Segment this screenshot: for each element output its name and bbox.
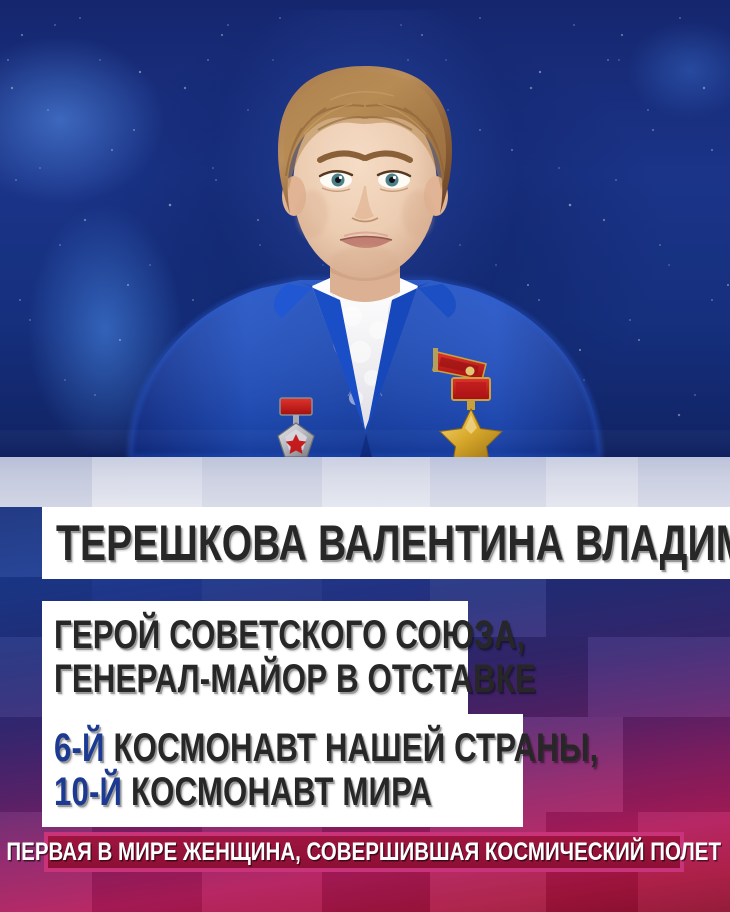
- page-title: ТЕРЕШКОВА ВАЛЕНТИНА ВЛАДИМИРОВНА: [56, 514, 730, 572]
- portrait-photo: [0, 0, 730, 457]
- title-block: ТЕРЕШКОВА ВАЛЕНТИНА ВЛАДИМИРОВНА: [42, 507, 730, 579]
- subtitle-line-3: 6-Й КОСМОНАВТ НАШЕЙ СТРАНЫ,: [54, 727, 598, 770]
- achievement-banner-text: ПЕРВАЯ В МИРЕ ЖЕНЩИНА, СОВЕРШИВШАЯ КОСМИ…: [7, 838, 722, 867]
- light-divider-band: [0, 457, 730, 507]
- subtitle-line-2: ГЕНЕРАЛ-МАЙОР В ОТСТАВКЕ: [54, 658, 536, 701]
- cosmonaut-rank-country: 6-Й: [54, 726, 105, 770]
- cosmonaut-rank-world: 10-Й: [54, 770, 122, 814]
- photo-area: [0, 0, 730, 457]
- subtitle-line-4-text: КОСМОНАВТ МИРА: [131, 770, 432, 814]
- poster: ТЕРЕШКОВА ВАЛЕНТИНА ВЛАДИМИРОВНА ГЕРОЙ С…: [0, 0, 730, 912]
- subtitle-block-primary: ГЕРОЙ СОВЕТСКОГО СОЮЗА, ГЕНЕРАЛ-МАЙОР В …: [42, 601, 468, 714]
- subtitle-line-1: ГЕРОЙ СОВЕТСКОГО СОЮЗА,: [54, 614, 525, 657]
- subtitle-line-3-text: КОСМОНАВТ НАШЕЙ СТРАНЫ,: [113, 726, 598, 770]
- subtitle-line-4: 10-Й КОСМОНАВТ МИРА: [54, 771, 432, 814]
- subtitle-block-secondary: 6-Й КОСМОНАВТ НАШЕЙ СТРАНЫ, 10-Й КОСМОНА…: [42, 714, 523, 827]
- achievement-banner-inner: ПЕРВАЯ В МИРЕ ЖЕНЩИНА, СОВЕРШИВШАЯ КОСМИ…: [48, 836, 680, 868]
- achievement-banner: ПЕРВАЯ В МИРЕ ЖЕНЩИНА, СОВЕРШИВШАЯ КОСМИ…: [44, 832, 684, 872]
